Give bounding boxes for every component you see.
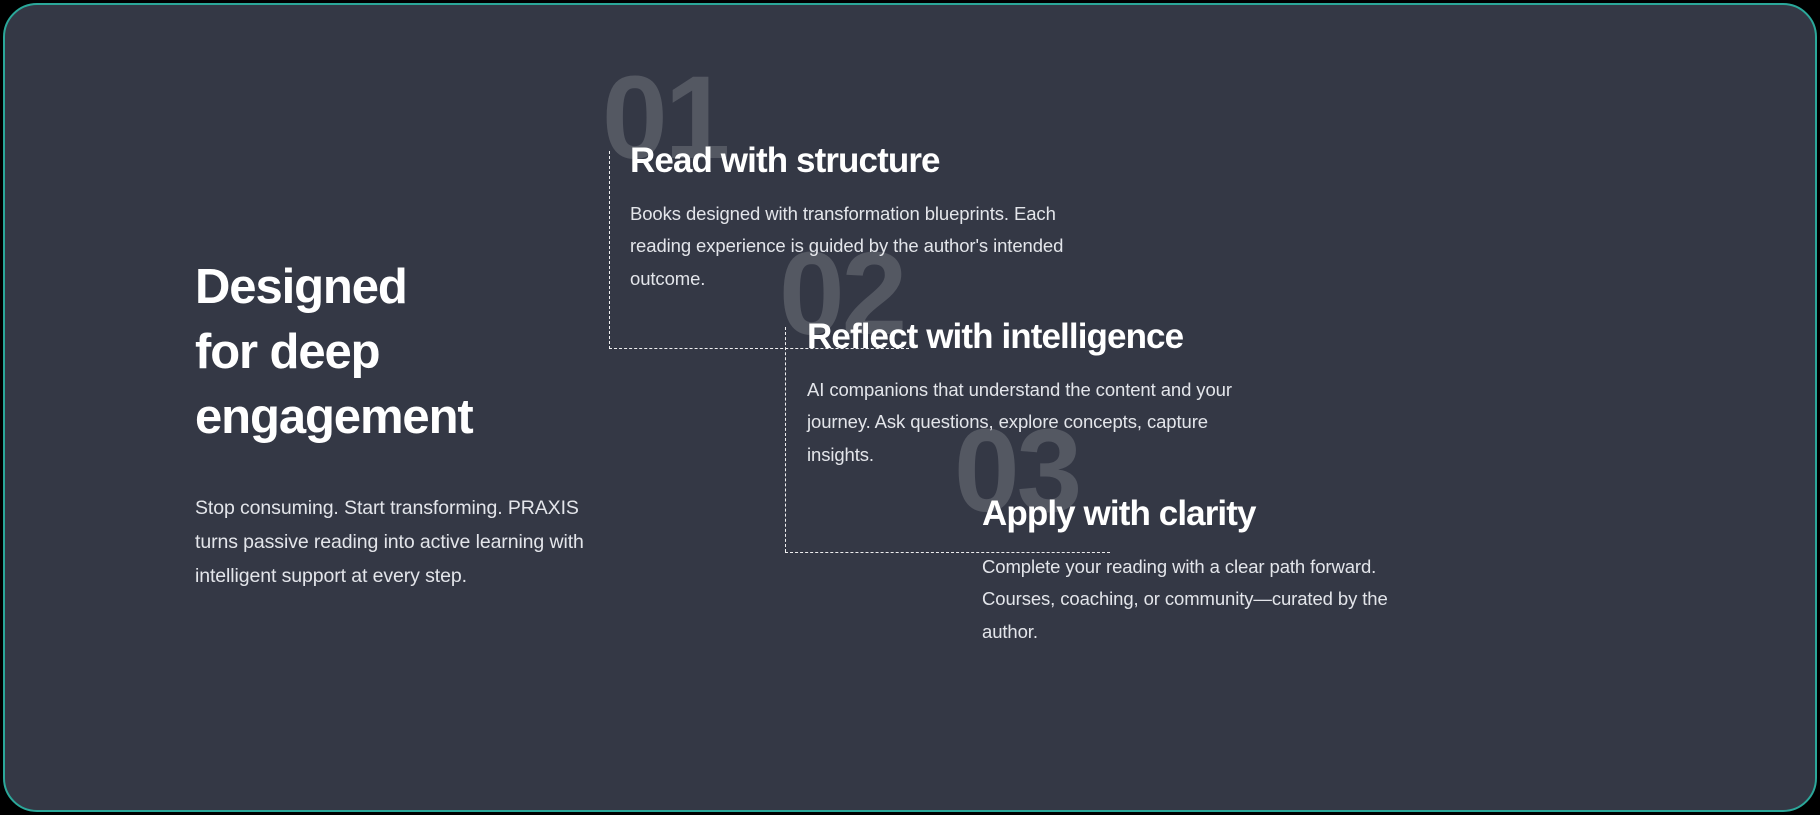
page-viewport: Designed for deep engagement Stop consum… — [3, 3, 1817, 812]
step-title-3: Apply with clarity — [982, 494, 1452, 534]
step-title-1: Read with structure — [630, 141, 1100, 181]
step-card-3: 03 Apply with clarity Complete your read… — [982, 494, 1452, 648]
step-body-3: Complete your reading with a clear path … — [982, 551, 1412, 648]
steps-list: 01 Read with structure Books designed wi… — [5, 5, 1815, 810]
step-title-2: Reflect with intelligence — [807, 317, 1277, 357]
